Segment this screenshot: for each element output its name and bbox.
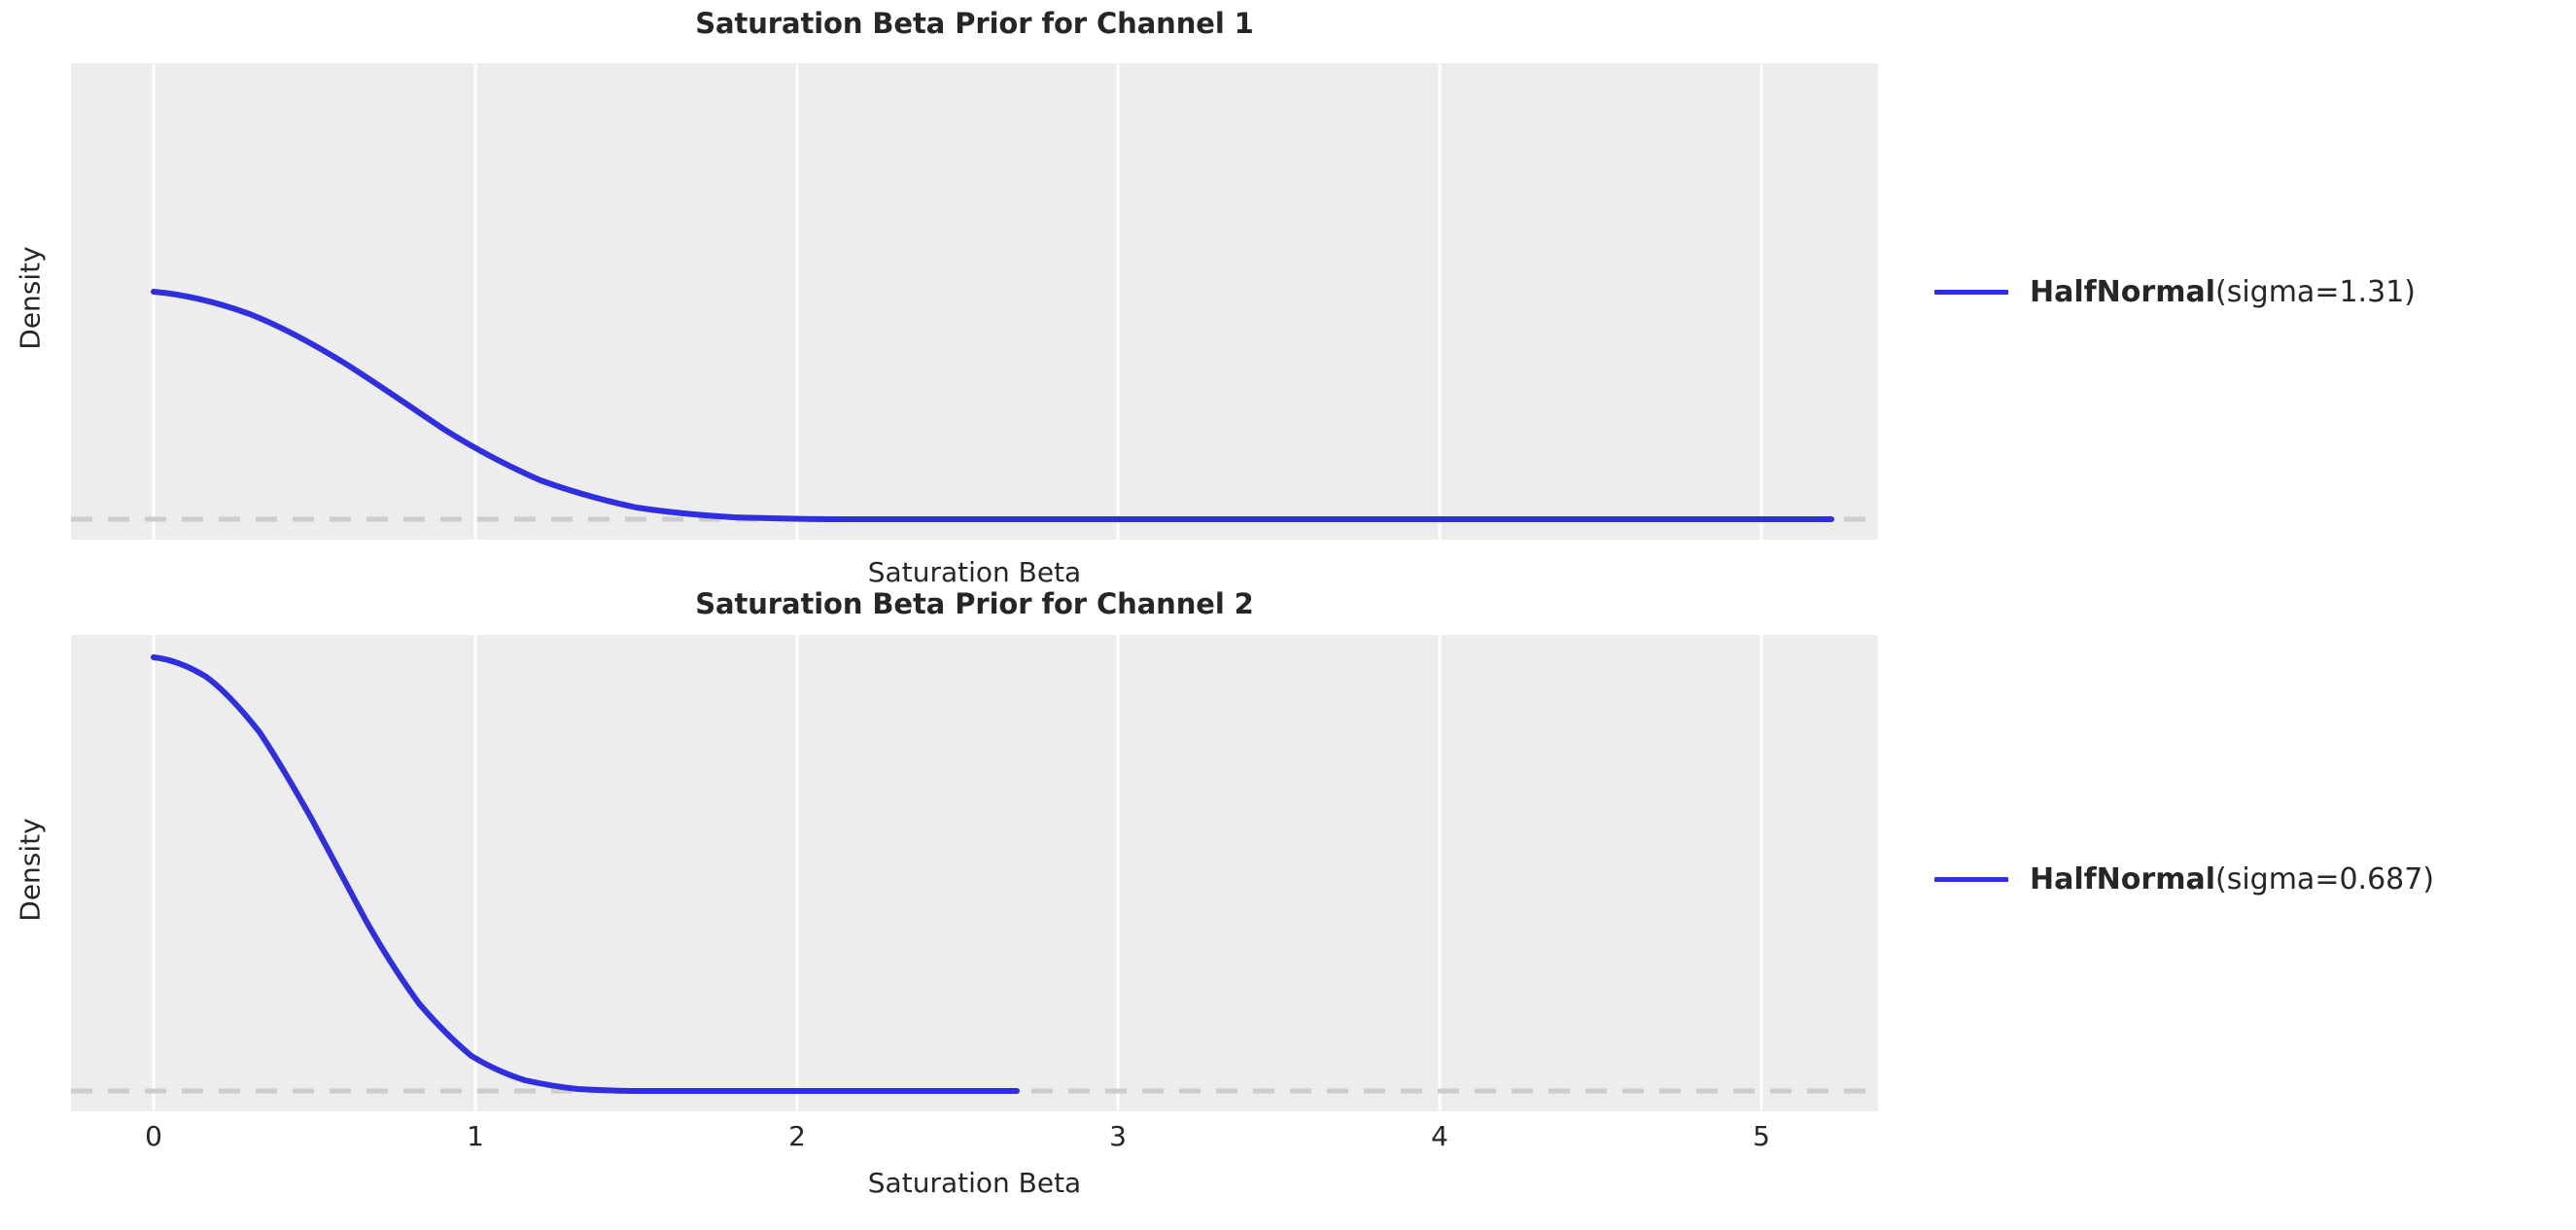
legend-channel-2: HalfNormal(sigma=0.687): [1934, 862, 2434, 896]
xlabel-channel-2: Saturation Beta: [71, 1167, 1878, 1199]
density-curve-channel-1: [71, 63, 1878, 540]
legend-dist-name-channel-2: HalfNormal: [2030, 862, 2215, 896]
xtick-2: 2: [788, 1120, 806, 1152]
legend-dist-params-channel-2: (sigma=0.687): [2215, 862, 2434, 896]
panel-2-title: Saturation Beta Prior for Channel 2: [71, 587, 1878, 620]
x-axis-tick-labels: 0 1 2 3 4 5: [71, 1120, 1878, 1159]
legend-label-channel-1: HalfNormal(sigma=1.31): [2030, 275, 2416, 309]
figure-canvas: Saturation Beta Prior for Channel 1 Dens…: [0, 0, 2576, 1230]
xtick-4: 4: [1431, 1120, 1448, 1152]
xtick-1: 1: [467, 1120, 484, 1152]
plot-area-channel-1: [71, 63, 1878, 540]
legend-dist-name-channel-1: HalfNormal: [2030, 275, 2215, 309]
xtick-0: 0: [145, 1120, 162, 1152]
ylabel-channel-2: Density: [15, 812, 47, 929]
density-curve-channel-2: [71, 635, 1878, 1111]
legend-channel-1: HalfNormal(sigma=1.31): [1934, 275, 2416, 309]
plot-area-channel-2: [71, 635, 1878, 1111]
xtick-5: 5: [1753, 1120, 1770, 1152]
xlabel-channel-1: Saturation Beta: [71, 556, 1878, 588]
xtick-3: 3: [1109, 1120, 1127, 1152]
subplot-channel-1: Saturation Beta Prior for Channel 1 Dens…: [0, 0, 2576, 615]
legend-line-swatch-channel-2: [1934, 877, 2008, 882]
legend-dist-params-channel-1: (sigma=1.31): [2215, 275, 2416, 309]
legend-line-swatch-channel-1: [1934, 290, 2008, 295]
panel-1-title: Saturation Beta Prior for Channel 1: [71, 7, 1878, 40]
ylabel-channel-1: Density: [15, 240, 47, 357]
legend-label-channel-2: HalfNormal(sigma=0.687): [2030, 862, 2434, 896]
